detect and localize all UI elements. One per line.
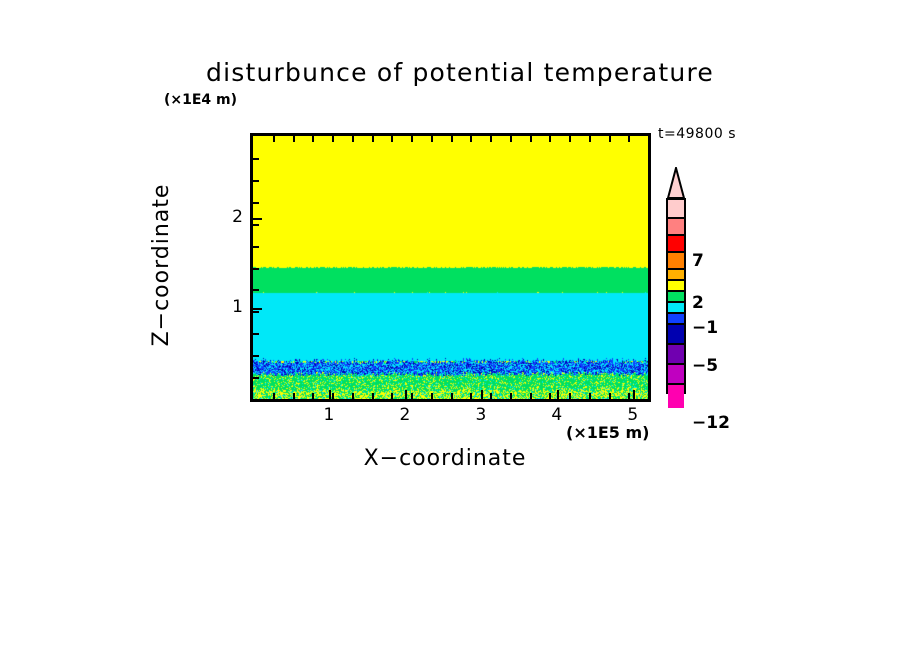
y-minor-tick: [253, 180, 259, 182]
x-minor-tick-top: [312, 136, 314, 142]
colorbar-arrow-icon: [665, 167, 687, 199]
x-minor-tick: [372, 393, 374, 399]
x-minor-tick: [293, 393, 295, 399]
colorbar-segment: [668, 200, 684, 217]
x-minor-tick-top: [490, 136, 492, 142]
y-minor-tick: [253, 224, 259, 226]
y-minor-tick: [253, 158, 259, 160]
x-minor-tick-top: [589, 136, 591, 142]
x-minor-tick-top: [510, 136, 512, 142]
x-minor-tick: [589, 393, 591, 399]
x-minor-tick: [411, 393, 413, 399]
plot-area: [250, 133, 651, 402]
x-minor-tick: [569, 393, 571, 399]
x-minor-tick: [549, 393, 551, 399]
x-minor-tick-top: [628, 136, 630, 142]
x-minor-tick: [431, 393, 433, 399]
x-minor-tick-top: [293, 136, 295, 142]
x-minor-tick-top: [431, 136, 433, 142]
x-minor-tick: [273, 393, 275, 399]
x-minor-tick-top: [530, 136, 532, 142]
x-major-tick: [405, 390, 407, 399]
x-tick-label: 4: [542, 405, 572, 425]
x-minor-tick-top: [411, 136, 413, 142]
colorbar-tick-label: 7: [692, 251, 704, 271]
y-minor-tick: [253, 377, 259, 379]
colorbar-segment: [668, 323, 684, 345]
page-title: disturbunce of potential temperature: [170, 58, 750, 87]
x-minor-tick-top: [549, 136, 551, 142]
x-minor-tick-top: [451, 136, 453, 142]
x-tick-label: 2: [390, 405, 420, 425]
x-major-tick: [329, 390, 331, 399]
x-minor-tick-top: [352, 136, 354, 142]
x-minor-tick-top: [372, 136, 374, 142]
colorbar-segment: [668, 363, 684, 385]
colorbar-segment: [668, 383, 684, 408]
figure-canvas: disturbunce of potential temperature (×1…: [0, 0, 904, 654]
x-minor-tick: [628, 393, 630, 399]
colorbar-tick-label: −5: [692, 356, 718, 376]
y-minor-tick: [253, 311, 259, 313]
colorbar-tick-label: −1: [692, 318, 718, 338]
y-minor-tick: [253, 246, 259, 248]
x-minor-tick: [391, 393, 393, 399]
x-minor-tick-top: [569, 136, 571, 142]
x-minor-tick-top: [470, 136, 472, 142]
y-major-tick: [253, 308, 262, 310]
colorbar: [665, 167, 687, 395]
y-minor-tick: [253, 202, 259, 204]
colorbar-tick-label: 2: [692, 293, 704, 313]
x-minor-tick-top: [609, 136, 611, 142]
y-minor-tick: [253, 289, 259, 291]
x-tick-label: 1: [314, 405, 344, 425]
y-major-tick: [253, 218, 262, 220]
x-minor-tick-top: [332, 136, 334, 142]
x-minor-tick: [510, 393, 512, 399]
y-axis-title: Z−coordinate: [149, 170, 174, 360]
y-minor-tick: [253, 355, 259, 357]
x-minor-tick: [312, 393, 314, 399]
x-axis-title: X−coordinate: [300, 446, 590, 471]
y-tick-label: 1: [221, 297, 243, 317]
colorbar-segments: [666, 198, 686, 394]
x-minor-tick-top: [273, 136, 275, 142]
x-minor-tick: [470, 393, 472, 399]
x-minor-tick: [490, 393, 492, 399]
y-tick-label: 2: [221, 207, 243, 227]
x-minor-tick: [530, 393, 532, 399]
x-axis-unit-label: (×1E5 m): [566, 423, 649, 442]
x-minor-tick: [352, 393, 354, 399]
y-axis-unit-label: (×1E4 m): [164, 92, 237, 108]
x-tick-label: 3: [466, 405, 496, 425]
y-minor-tick: [253, 333, 259, 335]
x-major-tick: [633, 390, 635, 399]
x-minor-tick: [332, 393, 334, 399]
x-tick-label: 5: [618, 405, 648, 425]
x-minor-tick: [451, 393, 453, 399]
colorbar-segment: [668, 343, 684, 365]
x-minor-tick-top: [391, 136, 393, 142]
timestamp-annotation: t=49800 s: [658, 126, 736, 142]
y-minor-tick: [253, 268, 259, 270]
x-major-tick: [557, 390, 559, 399]
x-minor-tick: [609, 393, 611, 399]
x-major-tick: [481, 390, 483, 399]
colorbar-tick-label: −12: [692, 413, 730, 433]
contour-field: [253, 136, 648, 399]
